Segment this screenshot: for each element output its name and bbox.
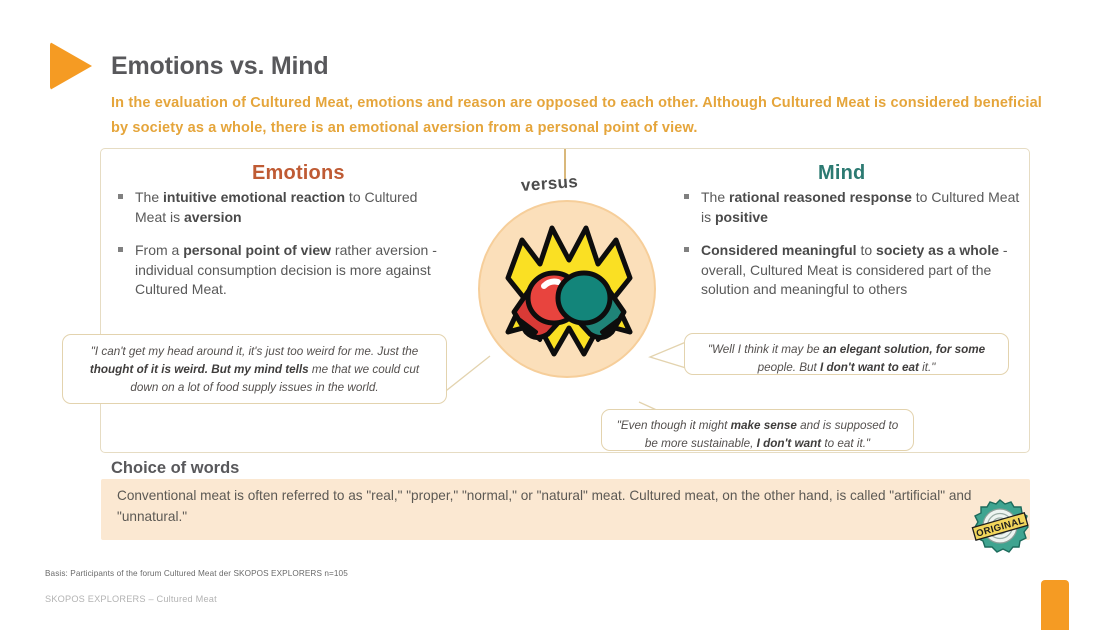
bullet-square-icon <box>684 247 689 252</box>
corner-accent-block <box>1041 580 1069 630</box>
mind-heading: Mind <box>818 162 865 185</box>
page-subtitle: In the evaluation of Cultured Meat, emot… <box>111 91 1061 141</box>
quote-part1: "Well I think it may be <box>708 343 823 356</box>
bullet-bold: Considered meaningful <box>701 242 857 258</box>
quote-part2: people. But <box>758 361 820 374</box>
emotions-bullet-list: The intuitive emotional reaction to Cult… <box>118 188 448 314</box>
slide-header: Emotions vs. Mind In the evaluation of C… <box>0 0 1120 145</box>
footer-basis-note: Basis: Participants of the forum Culture… <box>45 569 348 578</box>
bullet-square-icon <box>684 194 689 199</box>
bullet-square-icon <box>118 247 123 252</box>
list-item: Considered meaningful to society as a wh… <box>684 241 1020 300</box>
bullet-square-icon <box>118 194 123 199</box>
list-item: From a personal point of view rather ave… <box>118 241 448 300</box>
bullet-mid: to <box>857 242 876 258</box>
bullet-pre: The <box>135 189 163 205</box>
bullet-bold: personal point of view <box>183 242 331 258</box>
quote-part3: it." <box>919 361 936 374</box>
page-title: Emotions vs. Mind <box>111 52 328 81</box>
quote-bold2: I don't want to eat <box>820 361 919 374</box>
bullet-bold: rational reasoned response <box>729 189 912 205</box>
mind-bullet-list: The rational reasoned response to Cultur… <box>684 188 1020 314</box>
choice-of-words-title: Choice of words <box>111 459 239 478</box>
quote-part1: "I can't get my head around it, it's jus… <box>91 345 419 358</box>
quote-part3: to eat it." <box>821 437 870 450</box>
versus-label: versus <box>520 172 578 196</box>
bullet-pre: The <box>701 189 729 205</box>
bullet-bold2: positive <box>715 209 768 225</box>
quote-bold1: an elegant solution, for some <box>823 343 985 356</box>
bullet-bold2: aversion <box>184 209 242 225</box>
play-triangle-icon <box>50 42 92 90</box>
quote-bold2: I don't want <box>757 437 821 450</box>
quote-part1: "Even though it might <box>617 419 731 432</box>
bullet-bold2: society as a whole <box>876 242 999 258</box>
list-item: The rational reasoned response to Cultur… <box>684 188 1020 227</box>
quote-callout-left: "I can't get my head around it, it's jus… <box>62 334 447 404</box>
bullet-pre: From a <box>135 242 183 258</box>
original-seal-icon: ORIGINAL <box>969 498 1031 554</box>
quote-bold1: make sense <box>731 419 797 432</box>
quote-bold1: thought of it is weird. But my mind tell… <box>90 363 309 376</box>
choice-of-words-text: Conventional meat is often referred to a… <box>117 485 997 527</box>
bullet-bold: intuitive emotional reaction <box>163 189 345 205</box>
quote-callout-right: "Well I think it may be an elegant solut… <box>684 333 1009 375</box>
list-item: The intuitive emotional reaction to Cult… <box>118 188 448 227</box>
quote-callout-bottom: "Even though it might make sense and is … <box>601 409 914 451</box>
boxing-gloves-clash-icon <box>478 200 656 378</box>
emotions-heading: Emotions <box>252 162 345 185</box>
footer-brand-label: SKOPOS EXPLORERS – Cultured Meat <box>45 594 217 604</box>
